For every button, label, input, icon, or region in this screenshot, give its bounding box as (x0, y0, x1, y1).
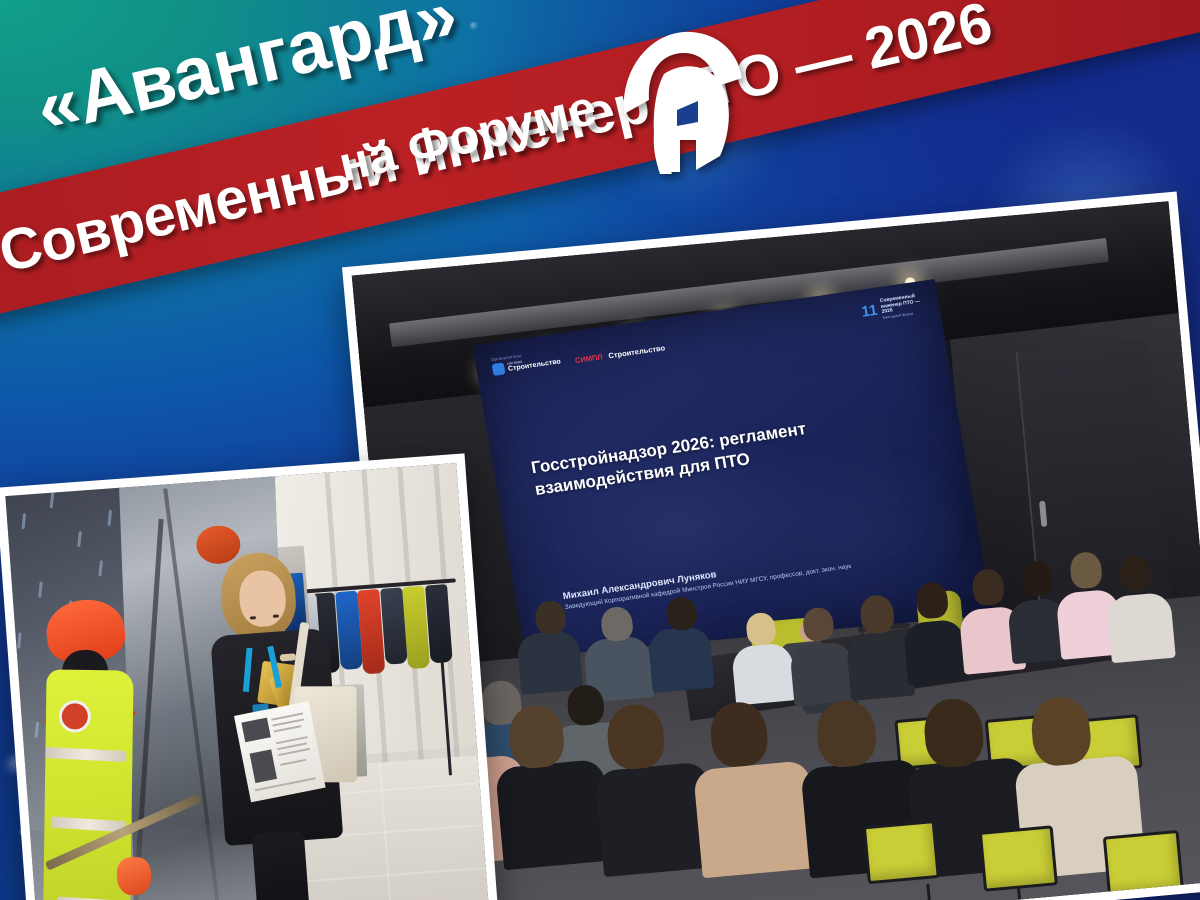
side-photo-image (5, 463, 488, 900)
poster-canvas: Организаторы: система Строительство . (0, 0, 1200, 900)
event-number: 11 (860, 303, 878, 320)
poster-title-sub: на Форуме (334, 80, 602, 193)
side-photo-frame (0, 453, 498, 900)
poster-heading: «Авангард» на Форуме (0, 0, 1200, 240)
audience (378, 487, 1200, 900)
spartan-helmet-icon (614, 22, 744, 187)
sistema-logo-icon (492, 362, 506, 376)
